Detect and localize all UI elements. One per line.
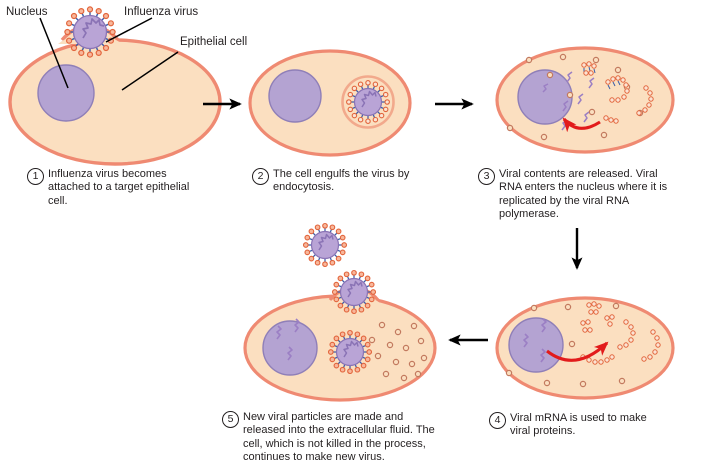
label-influenza-virus: Influenza virus (124, 6, 198, 19)
panel-3-cell (497, 48, 673, 152)
step-2-number: 2 (252, 168, 269, 185)
step-3-text: Viral contents are released. Viral RNA e… (499, 168, 674, 222)
nucleus-panel-1 (38, 65, 94, 121)
step-2-caption: 2 The cell engulfs the virus by endocyto… (252, 168, 432, 195)
step-5-caption: 5 New viral particles are made and relea… (222, 411, 444, 465)
virus-replication-diagram: Nucleus Influenza virus Epithelial cell … (0, 0, 702, 472)
label-epithelial-cell: Epithelial cell (180, 36, 247, 49)
step-3-number: 3 (478, 168, 495, 185)
panel-4-cell (497, 298, 673, 398)
step-5-number: 5 (222, 411, 239, 428)
virion-free (304, 224, 347, 267)
nucleus-panel-3 (518, 70, 572, 124)
step-4-caption: 4 Viral mRNA is used to make viral prote… (489, 412, 664, 439)
step-5-text: New viral particles are made and release… (243, 411, 444, 465)
label-nucleus: Nucleus (6, 6, 48, 19)
diagram-canvas (0, 0, 702, 472)
step-1-caption: 1 Influenza virus becomes attached to a … (27, 168, 207, 208)
step-4-text: Viral mRNA is used to make viral protein… (510, 412, 664, 439)
step-1-text: Influenza virus becomes attached to a ta… (48, 168, 207, 208)
virion-attached-panel-1 (65, 7, 115, 57)
virion-endosome-panel-2 (343, 77, 394, 128)
nucleus-panel-4 (509, 318, 563, 372)
step-2-text: The cell engulfs the virus by endocytosi… (273, 168, 432, 195)
step-3-caption: 3 Viral contents are released. Viral RNA… (478, 168, 674, 222)
virion-internal-panel-5 (329, 331, 372, 374)
nucleus-panel-2 (269, 70, 321, 122)
virion-budding-panel-5 (333, 271, 376, 314)
step-1-number: 1 (27, 168, 44, 185)
step-4-number: 4 (489, 412, 506, 429)
